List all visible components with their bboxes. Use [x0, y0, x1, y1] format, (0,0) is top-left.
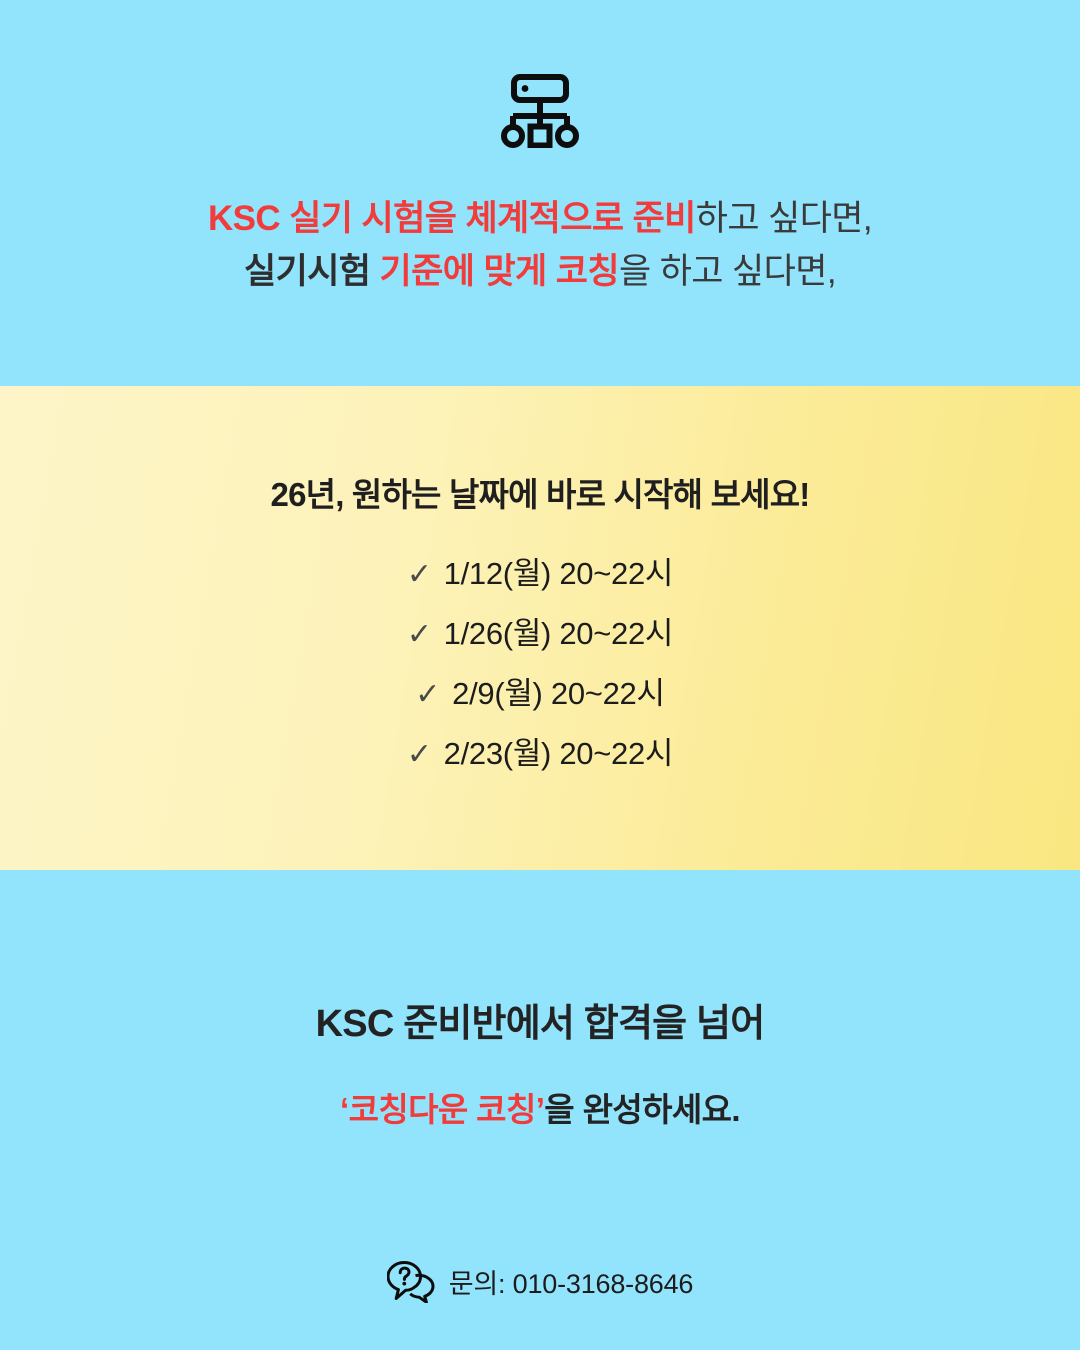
contact-phone-text: 문의: 010-3168-8646	[449, 1262, 693, 1301]
top-headline-block: KSC 실기 시험을 체계적으로 준비하고 싶다면, 실기시험 기준에 맞게 코…	[208, 192, 872, 298]
bottom-blue-section: KSC 준비반에서 합격을 넘어 ‘코칭다운 코칭’을 완성하세요. 문의: 0…	[0, 870, 1080, 1350]
list-item: ✓1/26(월) 20~22시	[407, 618, 673, 650]
list-item: ✓2/9(월) 20~22시	[407, 678, 673, 710]
promo-poster: KSC 실기 시험을 체계적으로 준비하고 싶다면, 실기시험 기준에 맞게 코…	[0, 0, 1080, 1350]
open-quote: ‘	[340, 1091, 349, 1128]
list-item: ✓2/23(월) 20~22시	[407, 738, 673, 770]
hierarchy-icon	[497, 74, 583, 148]
schedule-list: ✓1/12(월) 20~22시 ✓1/26(월) 20~22시 ✓2/9(월) …	[407, 558, 673, 798]
schedule-item-label: 1/12(월) 20~22시	[444, 556, 674, 591]
check-icon: ✓	[407, 618, 432, 651]
closing-line-1-rest: 에서 합격을 넘어	[506, 1003, 765, 1045]
check-icon: ✓	[407, 738, 432, 771]
headline-line-1-rest: 하고 싶다면,	[696, 199, 872, 238]
contact-row: 문의: 010-3168-8646	[387, 1259, 693, 1303]
headline-line-1-accent: KSC 실기 시험을 체계적으로 준비	[208, 199, 696, 238]
schedule-item-label: 1/26(월) 20~22시	[444, 616, 674, 651]
headline-line-2-accent: 기준에 맞게 코칭	[380, 252, 619, 291]
schedule-item-label: 2/9(월) 20~22시	[452, 676, 665, 711]
check-icon: ✓	[407, 558, 432, 591]
headline-line-2: 실기시험 기준에 맞게 코칭을 하고 싶다면,	[208, 245, 872, 298]
closing-line-2: ‘코칭다운 코칭’을 완성하세요.	[340, 1083, 740, 1131]
headline-line-2-dark: 실기시험	[244, 252, 380, 291]
list-item: ✓1/12(월) 20~22시	[407, 558, 673, 590]
closing-line-1: KSC 준비반에서 합격을 넘어	[316, 992, 765, 1047]
check-icon: ✓	[415, 678, 440, 711]
schedule-heading: 26년, 원하는 날짜에 바로 시작해 보세요!	[271, 468, 810, 516]
schedule-yellow-section: 26년, 원하는 날짜에 바로 시작해 보세요! ✓1/12(월) 20~22시…	[0, 386, 1080, 870]
closing-line-2-accent: 코칭다운 코칭	[349, 1091, 536, 1128]
schedule-item-label: 2/23(월) 20~22시	[444, 736, 674, 771]
top-blue-section: KSC 실기 시험을 체계적으로 준비하고 싶다면, 실기시험 기준에 맞게 코…	[0, 0, 1080, 386]
closing-line-1-strong: KSC 준비반	[316, 1003, 506, 1045]
close-quote: ’	[536, 1091, 545, 1128]
closing-line-2-rest: 을 완성하세요.	[544, 1091, 740, 1128]
question-speech-bubble-icon	[387, 1259, 435, 1303]
headline-line-1: KSC 실기 시험을 체계적으로 준비하고 싶다면,	[208, 192, 872, 245]
headline-line-2-rest: 을 하고 싶다면,	[619, 252, 836, 291]
